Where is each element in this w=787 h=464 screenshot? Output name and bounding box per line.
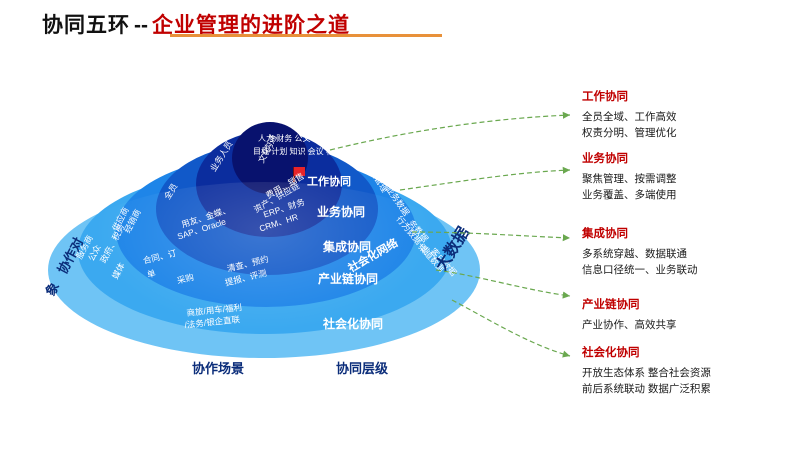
panel-work: 工作协同 全员全域、工作高效 权责分明、管理优化: [582, 88, 677, 141]
axis-coop-level: 协同层级: [336, 358, 388, 377]
title-main: 协同五环: [42, 14, 130, 37]
ring-label-social: 社会化协同: [323, 315, 383, 332]
panel-work-line-1: 全员全域、工作高效: [582, 109, 677, 125]
panel-integration-line-2: 信息口径统一、业务联动: [582, 262, 698, 278]
panel-social-line-2: 前后系统联动 数据广泛积累: [582, 381, 711, 397]
panel-chain-heading: 产业链协同: [582, 296, 677, 312]
panel-work-heading: 工作协同: [582, 88, 677, 104]
title-dash: --: [134, 14, 148, 37]
panel-social-heading: 社会化协同: [582, 344, 711, 360]
ring-label-work: 工作协同: [307, 173, 351, 189]
panel-business: 业务协同 聚焦管理、按需调整 业务覆盖、多端使用: [582, 150, 677, 203]
panel-integration-line-1: 多系统穿越、数据联通: [582, 246, 698, 262]
panel-social-line-1: 开放生态体系 整合社会资源: [582, 365, 711, 381]
title-underline: [170, 34, 442, 37]
panel-business-heading: 业务协同: [582, 150, 677, 166]
panel-integration-heading: 集成协同: [582, 225, 698, 241]
panel-chain: 产业链协同 产业协作、高效共享: [582, 296, 677, 333]
panel-social: 社会化协同 开放生态体系 整合社会资源 前后系统联动 数据广泛积累: [582, 344, 711, 397]
panel-chain-line-1: 产业协作、高效共享: [582, 317, 677, 333]
ring4-item-2: 单: [146, 268, 157, 281]
slide-canvas: 协同五环--企业管理的进阶之道 人力 财务 公文 协同 表单 行政 目标 计划 …: [0, 0, 787, 464]
panel-work-line-2: 权责分明、管理优化: [582, 125, 677, 141]
ring-label-business: 业务协同: [317, 203, 365, 220]
panel-integration: 集成协同 多系统穿越、数据联通 信息口径统一、业务联动: [582, 225, 698, 278]
panel-business-line-1: 聚焦管理、按需调整: [582, 171, 677, 187]
axis-coop-scene: 协作场景: [192, 358, 244, 377]
panel-business-line-2: 业务覆盖、多端使用: [582, 187, 677, 203]
ring-label-chain: 产业链协同: [318, 270, 378, 287]
